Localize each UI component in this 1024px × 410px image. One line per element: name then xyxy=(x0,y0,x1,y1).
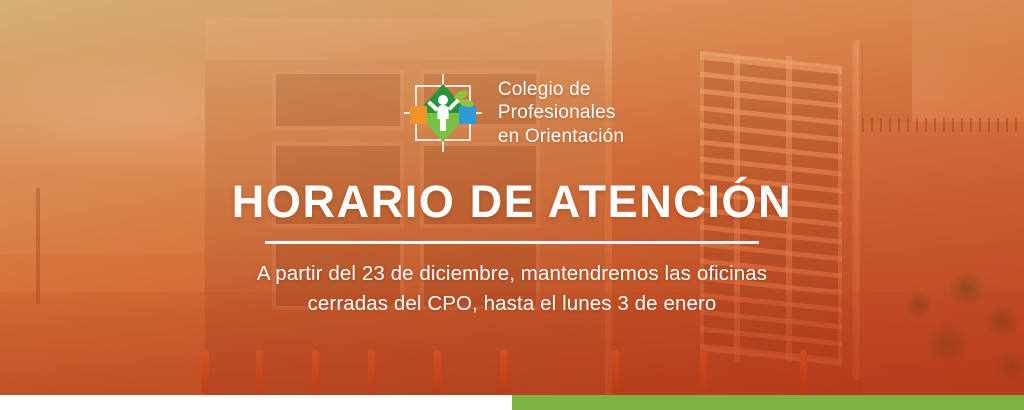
bottom-accent-bar xyxy=(0,395,1024,410)
horario-de-atencion-banner: Colegio de Profesionales en Orientación … xyxy=(0,0,1024,410)
page-title: HORARIO DE ATENCIÓN xyxy=(232,176,792,228)
banner-content: Colegio de Profesionales en Orientación … xyxy=(0,0,1024,410)
title-divider xyxy=(265,241,759,244)
logo-wordmark: Colegio de Profesionales en Orientación xyxy=(498,78,624,148)
announcement-text: A partir del 23 de diciembre, mantendrem… xyxy=(257,259,767,318)
cpo-logo-icon xyxy=(400,72,486,154)
logo-word-line2: Profesionales xyxy=(498,101,624,124)
bottom-bar-green-segment xyxy=(512,395,1024,410)
bottom-bar-white-segment xyxy=(0,395,512,410)
logo-word-line1: Colegio de xyxy=(498,78,624,101)
logo-word-line3: en Orientación xyxy=(498,125,624,148)
logo-lockup: Colegio de Profesionales en Orientación xyxy=(400,72,624,154)
announcement-line-1: A partir del 23 de diciembre, mantendrem… xyxy=(257,259,767,289)
announcement-line-2: cerradas del CPO, hasta el lunes 3 de en… xyxy=(257,289,767,319)
